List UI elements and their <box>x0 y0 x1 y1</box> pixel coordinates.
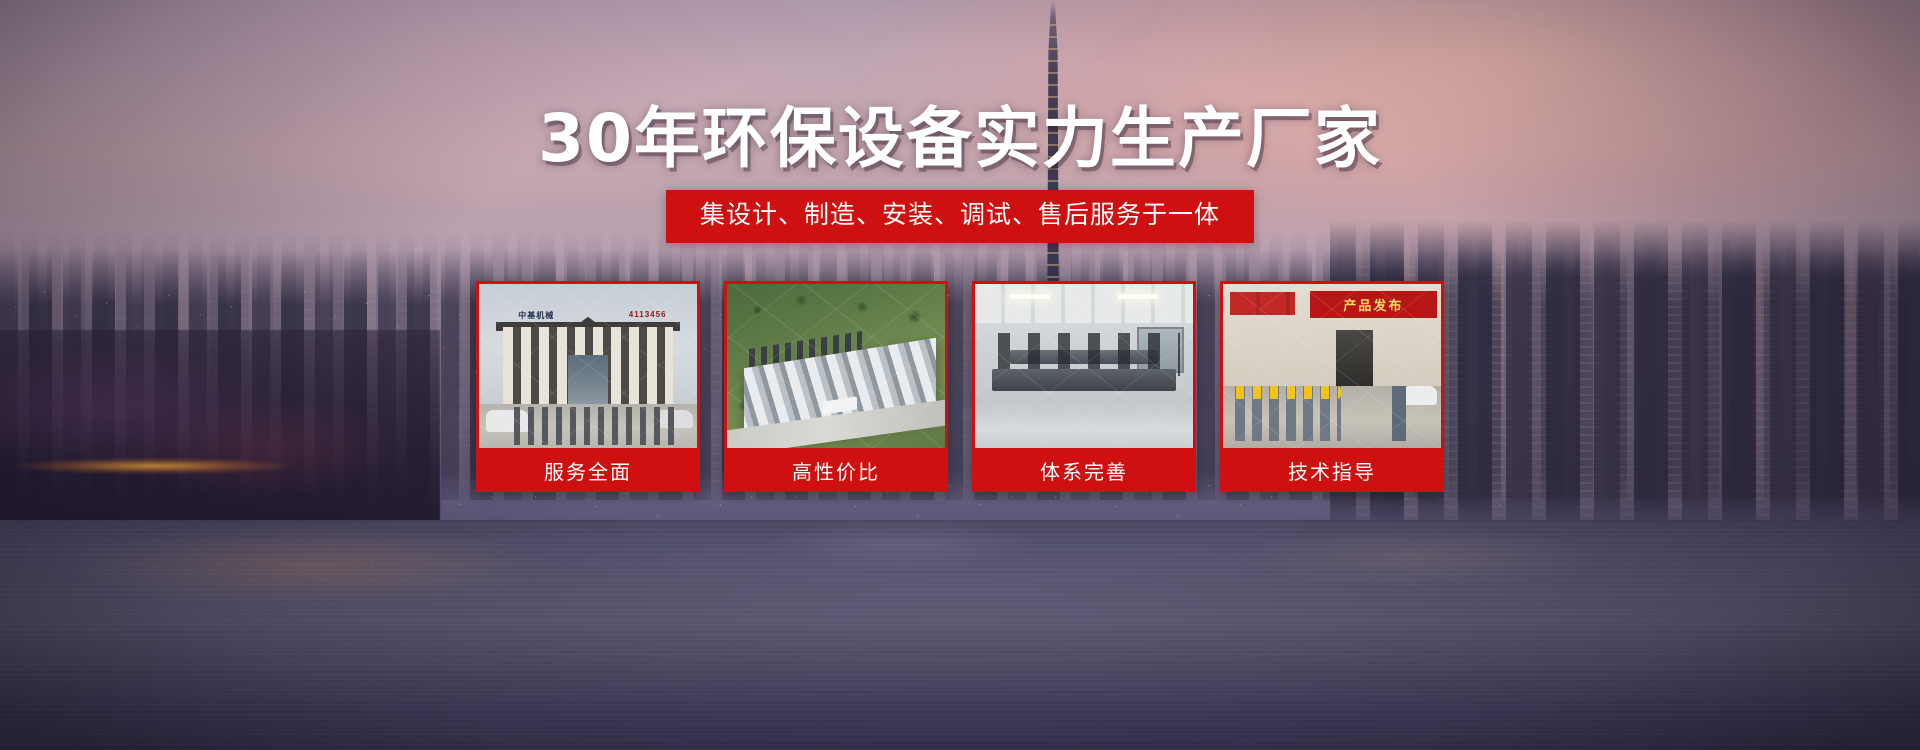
feature-card-caption: 高性价比 <box>727 448 945 492</box>
photo-company-sign-text: 中基机械 <box>518 310 554 321</box>
photo-safety-helmets <box>1232 386 1341 399</box>
company-headquarters-building-photo: 中基机械 4113456 <box>479 284 697 448</box>
photo-supervisor <box>1392 386 1406 442</box>
banner-content: 30年环保设备实力生产厂家 集设计、制造、安装、调试、售后服务于一体 中基机械 … <box>0 0 1920 750</box>
photo-ceiling-lamp <box>1118 294 1158 299</box>
aerial-factory-plant-photo <box>727 284 945 448</box>
photo-front-desk-row <box>992 369 1175 390</box>
workshop-technicians-photo: 产品发布 <box>1223 284 1441 448</box>
feature-card-row: 中基机械 4113456 服务全面 <box>0 281 1920 492</box>
banner-subtitle-badge: 集设计、制造、安装、调试、售后服务于一体 <box>666 190 1254 243</box>
photo-phone-number-text: 4113456 <box>629 310 667 319</box>
banner-subtitle-row: 集设计、制造、安装、调试、售后服务于一体 <box>0 190 1920 243</box>
banner-headline: 30年环保设备实力生产厂家 <box>0 104 1920 174</box>
hero-banner: 30年环保设备实力生产厂家 集设计、制造、安装、调试、售后服务于一体 中基机械 … <box>0 0 1920 750</box>
photo-ceiling-lamp <box>1010 294 1050 299</box>
photo-ceiling-grid <box>975 284 1193 323</box>
photo-workshop-vehicle <box>1404 386 1437 406</box>
feature-card[interactable]: 中基机械 4113456 服务全面 <box>476 281 700 492</box>
office-staff-workspace-photo <box>975 284 1193 448</box>
feature-card[interactable]: 体系完善 <box>972 281 1196 492</box>
photo-workshop-door <box>1336 330 1373 386</box>
photo-wall-headline-sign: 产品发布 <box>1310 291 1436 319</box>
photo-wall-banner-left <box>1230 292 1295 315</box>
feature-card-caption: 服务全面 <box>479 448 697 492</box>
feature-card[interactable]: 产品发布 技术指导 <box>1220 281 1444 492</box>
feature-card[interactable]: 高性价比 <box>724 281 948 492</box>
photo-office-floor <box>975 402 1193 448</box>
photo-staff-lineup <box>510 407 676 445</box>
feature-card-caption: 体系完善 <box>975 448 1193 492</box>
photo-building-entrance <box>568 355 607 404</box>
feature-card-caption: 技术指导 <box>1223 448 1441 492</box>
